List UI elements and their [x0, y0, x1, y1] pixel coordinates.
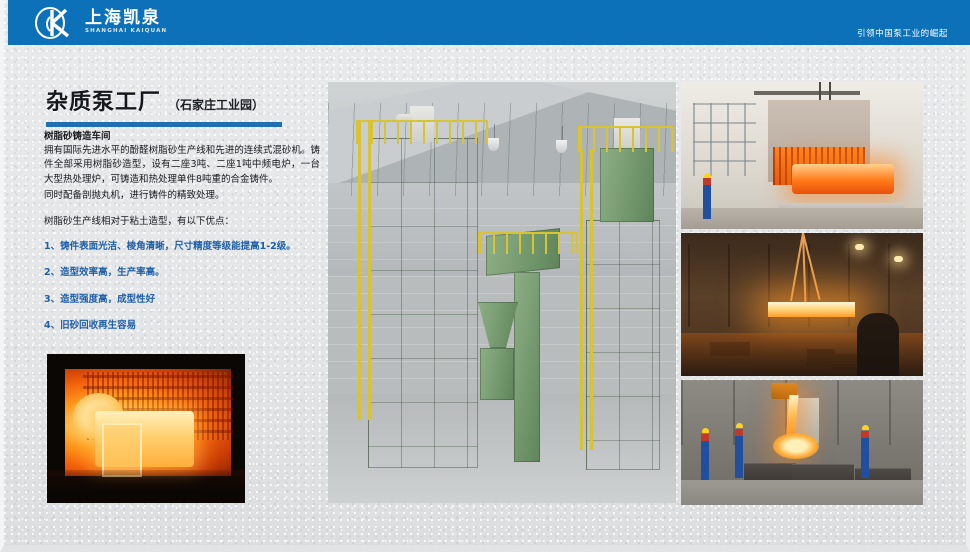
- r2-foreground-worker-silhouette: [857, 313, 899, 376]
- body-text-block: 树脂砂铸造车间 拥有国际先进水平的酚醛树脂砂生产线和先进的连续式混砂机。铸件全部…: [44, 128, 320, 345]
- r3-worker-right: [860, 425, 874, 485]
- r3-worker-vest: [861, 431, 869, 438]
- header-slogan: 引领中国泵工业的崛起: [857, 27, 948, 39]
- spacer: [44, 206, 320, 215]
- hall-lamp: [488, 138, 499, 151]
- kaiquan-k-logo-icon: [32, 7, 78, 39]
- page-title: 杂质泵工厂 （石家庄工业园）: [46, 84, 308, 127]
- center-platform-railing: [478, 232, 578, 254]
- r1-floor: [681, 208, 923, 229]
- photo-heat-treatment-furnace-interior: [47, 354, 245, 503]
- logo-wordmark: 上海凯泉 SHANGHAI KAIQUAN: [85, 10, 167, 35]
- sand-mixer-silo-right: [586, 220, 660, 470]
- photo-crane-lifting-hot-slab: [681, 233, 923, 376]
- r3-worker-uniform: [861, 438, 869, 478]
- company-logo[interactable]: 上海凯泉 SHANGHAI KAIQUAN: [32, 6, 167, 39]
- r1-worker: [703, 173, 715, 229]
- body-paragraph-1: 拥有国际先进水平的酚醛树脂砂生产线和先进的连续式混砂机。铸件全部采用树脂砂造型，…: [44, 144, 320, 187]
- r3-worker-left: [700, 428, 714, 488]
- r3-worker-center: [734, 423, 748, 486]
- title-main: 杂质泵工厂: [46, 84, 161, 116]
- photo-heat-treatment-furnace-with-castings: [681, 82, 923, 229]
- platform-railing-left: [356, 120, 488, 144]
- furnace-hearth: [47, 470, 245, 503]
- r3-molten-splash: [773, 433, 819, 459]
- body-paragraph-2: 同时配备剖抛丸机，进行铸件的精致处理。: [44, 189, 320, 203]
- body-paragraph-3: 树脂砂生产线相对于粘土造型，有以下优点：: [44, 215, 320, 229]
- r3-worker-helmet-icon: [702, 428, 709, 433]
- r3-worker-uniform: [735, 436, 743, 478]
- title-subtitle: （石家庄工业园）: [168, 96, 264, 113]
- advantage-item-4: 4、旧砂回收再生容易: [44, 319, 320, 333]
- r1-hot-casting: [792, 164, 894, 193]
- r3-worker-helmet-icon: [736, 423, 743, 428]
- ladder-right: [580, 150, 583, 450]
- advantage-item-3: 3、造型强度高，成型性好: [44, 293, 320, 307]
- r1-worker-uniform: [703, 185, 711, 219]
- title-row: 杂质泵工厂 （石家庄工业园）: [46, 84, 308, 116]
- advantage-item-2: 2、造型效率高，生产率高。: [44, 266, 320, 280]
- platform-railing-right: [578, 126, 674, 152]
- slide-root: 上海凯泉 SHANGHAI KAIQUAN 引领中国泵工业的崛起 杂质泵工厂 （…: [0, 0, 970, 552]
- r3-floor: [681, 480, 923, 505]
- r2-ceiling-light: [894, 256, 903, 262]
- r1-window: [693, 103, 756, 177]
- logo-name-en: SHANGHAI KAIQUAN: [85, 29, 167, 35]
- r1-overhead-beam: [754, 91, 860, 95]
- hall-lamp: [556, 140, 567, 153]
- center-column: [514, 272, 540, 462]
- ladder-right-rail2: [590, 150, 593, 450]
- r1-worker-vest: [703, 178, 711, 185]
- right-upper-hopper: [600, 148, 654, 222]
- photo-molten-metal-pouring: [681, 380, 923, 505]
- center-machine-base: [480, 348, 514, 400]
- photo-resin-sand-foundry-equipment: [328, 82, 676, 503]
- r3-worker-vest: [735, 429, 743, 436]
- r3-worker-vest: [701, 434, 709, 441]
- spacer: [44, 231, 320, 240]
- r2-glowing-slab: [768, 302, 855, 318]
- logo-name-cn: 上海凯泉: [85, 10, 167, 27]
- r3-worker-uniform: [701, 441, 709, 481]
- advantage-item-1: 1、铸件表面光洁、棱角清晰，尺寸精度等级能提高1-2级。: [44, 240, 320, 254]
- title-underline-bar: [46, 122, 282, 127]
- page-header: 上海凯泉 SHANGHAI KAIQUAN 引领中国泵工业的崛起: [8, 0, 970, 45]
- r3-worker-helmet-icon: [862, 425, 869, 430]
- body-heading: 树脂砂铸造车间: [44, 128, 320, 142]
- sand-mixer-silo-left: [368, 138, 478, 468]
- ladder-left-rail2: [368, 120, 371, 420]
- furnace-charge-frame: [102, 423, 142, 478]
- ladder-left: [358, 120, 361, 420]
